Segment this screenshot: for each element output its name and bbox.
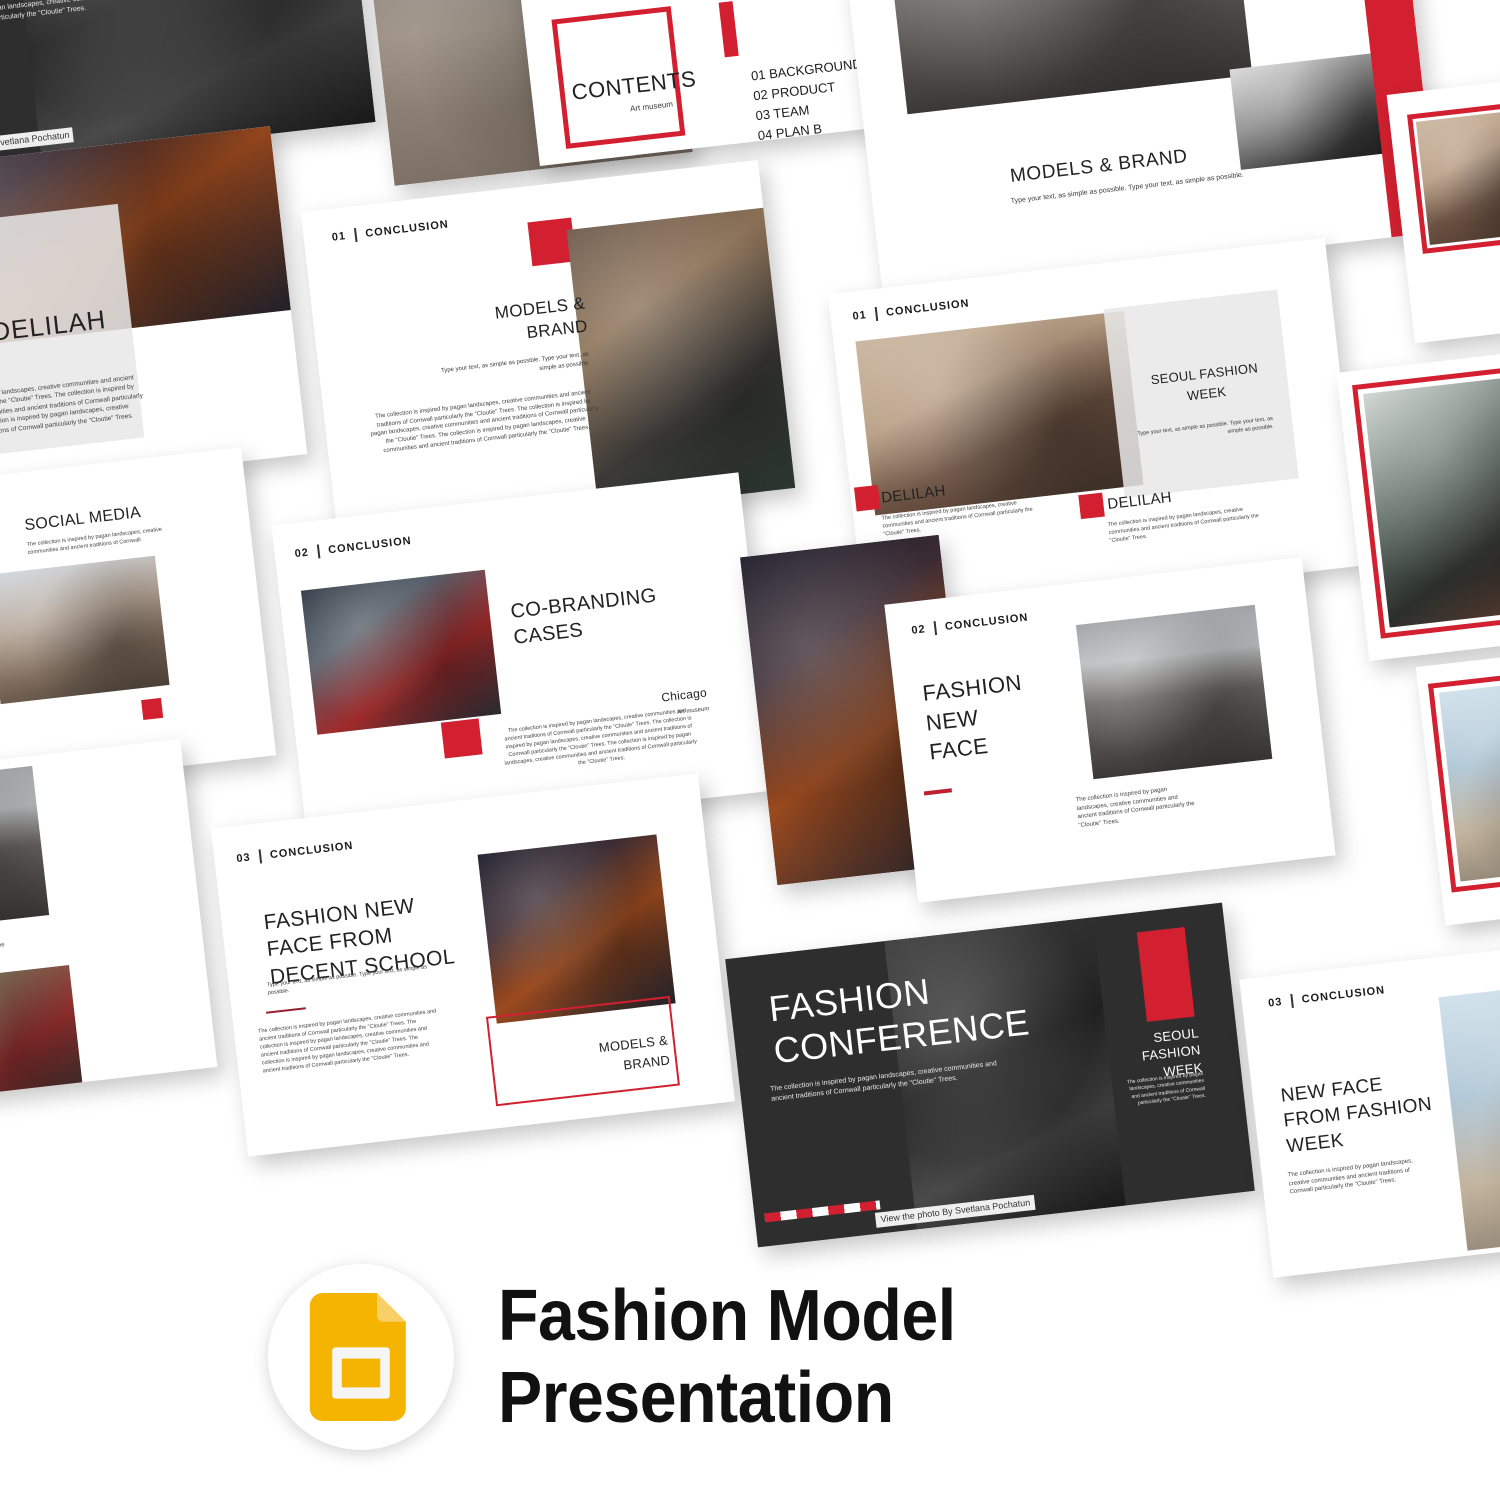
brand-title: Fashion Model Presentation (498, 1275, 1206, 1439)
slide-body: The collection is inspired by pagan land… (368, 388, 601, 457)
section-divider (317, 544, 320, 558)
slide-section-header: 03 CONCLUSION (236, 839, 354, 866)
section-divider (1291, 994, 1294, 1008)
city-name: Chicago (661, 685, 708, 705)
section-divider (259, 849, 262, 863)
slide-photo (478, 834, 676, 1023)
slide-photo (567, 206, 796, 518)
slide-left-photo-stack[interactable]: The collection is inspired by pagan land… (0, 739, 217, 1111)
slide-conclusion-03-newface[interactable]: 03 CONCLUSION NEW FACE FROM FASHION WEEK… (1239, 932, 1500, 1278)
accent-red-band (1137, 927, 1195, 1022)
slide-conclusion-03-decent[interactable]: 03 CONCLUSION FASHION NEW FACE FROM DECE… (211, 773, 735, 1156)
slide-fashion-conference-bottom[interactable]: FASHION CONFERENCE The collection is ins… (725, 903, 1255, 1248)
slide-photo (1076, 605, 1272, 779)
slide-title: FASHION NEW FACE (921, 668, 1030, 768)
slide-photo-right (0, 556, 170, 704)
slide-photo-top (0, 766, 49, 935)
slide-photo (301, 570, 501, 735)
slide-body: The collection is inspired by pagan land… (500, 707, 699, 777)
slide-section-header: 02 CONCLUSION (294, 534, 412, 561)
slide-photo (1416, 107, 1500, 245)
accent-red-rule (266, 1007, 306, 1014)
google-slides-icon (309, 1293, 413, 1421)
accent-red-square (141, 698, 163, 720)
slide-body: The collection is inspired by pagan land… (1075, 783, 1198, 831)
brand-footer: Fashion Model Presentation (268, 1262, 1268, 1452)
accent-red-square (441, 718, 483, 758)
slide-section-header: 03 CONCLUSION (1267, 983, 1385, 1010)
section-number: 02 (294, 547, 309, 561)
slide-caption: Type your text, as simple as possible. T… (429, 350, 590, 386)
section-number: 01 (331, 230, 346, 244)
delilah-title-2: DELILAH (1107, 489, 1173, 514)
section-label: CONCLUSION (885, 297, 970, 318)
slide-section-header: 01 CONCLUSION (331, 217, 449, 244)
slide-title: MODELS & BRAND (465, 293, 589, 352)
slide-portrait-glass-right[interactable] (1337, 339, 1500, 661)
contents-list[interactable]: 01 BACKGROUND 02 PRODUCT 03 TEAM 04 PLAN… (750, 54, 872, 166)
section-label: CONCLUSION (328, 535, 413, 556)
section-divider (354, 228, 357, 242)
presentation-mockup-canvas: FASHION CONFERENCE The collection is ins… (0, 0, 1500, 1500)
section-label: CONCLUSION (269, 840, 354, 861)
slide-portrait-framed-right[interactable] (1387, 67, 1500, 344)
section-divider (934, 621, 937, 635)
slide-delilah-left[interactable]: DELILAH The collection is inspired by pa… (0, 126, 307, 504)
section-number: 03 (1268, 996, 1283, 1010)
section-label: CONCLUSION (1301, 984, 1386, 1005)
slide-body: The collection is inspired by pagan land… (1287, 1157, 1419, 1198)
section-label: CONCLUSION (365, 218, 450, 239)
slide-body: The collection is inspired by pagan land… (258, 1008, 442, 1076)
slide-red-strip-right[interactable] (1416, 645, 1500, 926)
slide-photo (855, 311, 1143, 515)
slide-title: NEW FACE FROM FASHION WEEK (1279, 1067, 1436, 1160)
google-slides-badge (268, 1264, 454, 1450)
section-number: 01 (852, 309, 867, 323)
section-number: 02 (911, 623, 926, 637)
accent-red-rule (924, 788, 952, 795)
slide-title: CO-BRANDING CASES (509, 583, 661, 651)
slide-photo-main (880, 0, 1252, 114)
slide-models-brand-top[interactable]: FASHION NEW FACE MODELS & BRAND Type you… (831, 0, 1439, 295)
footer-red-dashes (764, 1200, 880, 1222)
section-label: CONCLUSION (944, 612, 1029, 633)
section-number: 03 (236, 852, 251, 866)
slide-conclusion-02-newface[interactable]: 02 CONCLUSION FASHION NEW FACE The colle… (884, 557, 1335, 903)
slide-side-body: The collection is inspired by pagan land… (1125, 1071, 1206, 1109)
slide-photo-bottom (0, 965, 85, 1111)
contents-red-bar (719, 1, 739, 57)
slide-photo (1439, 972, 1500, 1250)
accent-red-square-2 (1078, 493, 1105, 520)
accent-red-square-1 (854, 485, 881, 512)
section-divider (875, 307, 878, 321)
slide-section-header: 02 CONCLUSION (911, 611, 1029, 638)
slide-section-header: 01 CONCLUSION (852, 296, 970, 323)
